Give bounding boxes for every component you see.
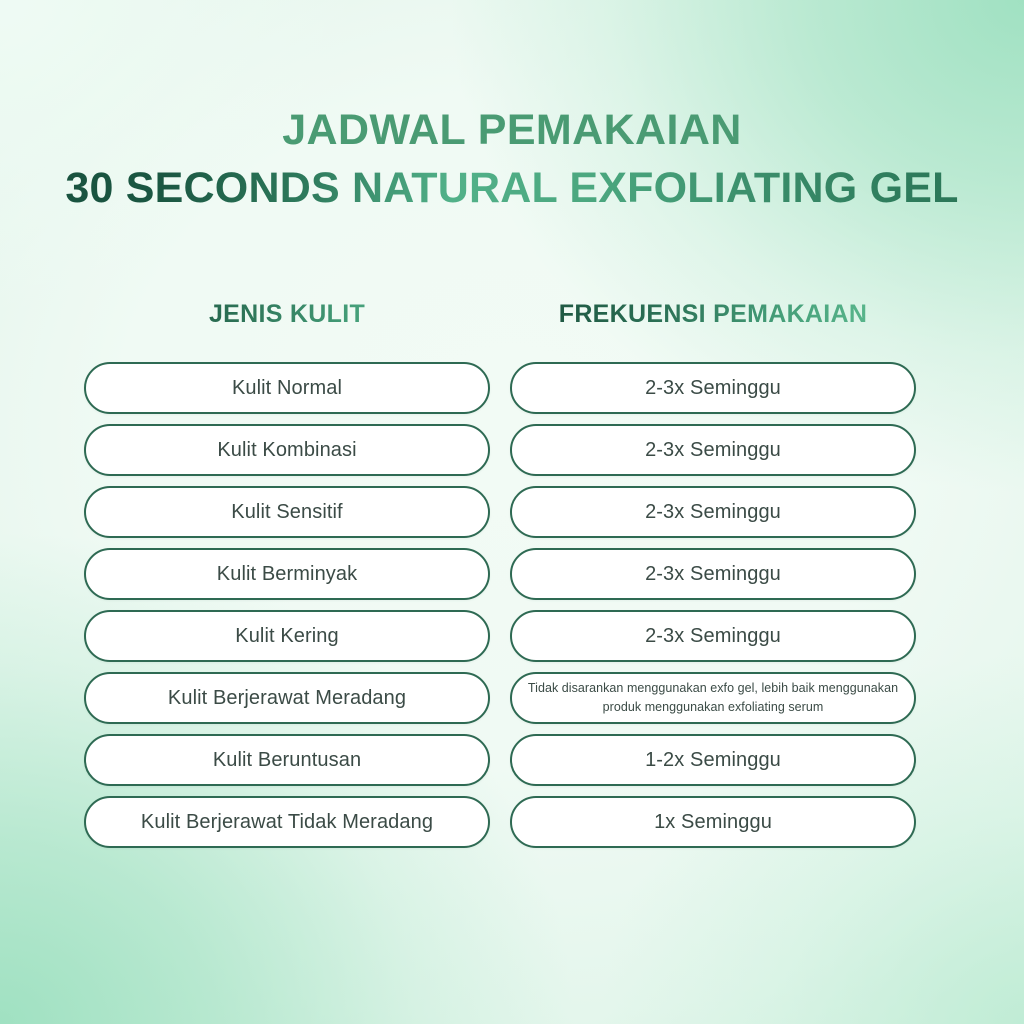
table-row[interactable]: 1x Seminggu — [510, 796, 916, 848]
table-row[interactable]: Kulit Berjerawat Tidak Meradang — [84, 796, 490, 848]
table-row[interactable]: 2-3x Seminggu — [510, 424, 916, 476]
poster-title-primary: JADWAL PEMAKAIAN — [0, 108, 1024, 153]
column-frequency: FREKUENSI PEMAKAIAN 2-3x Seminggu 2-3x S… — [510, 300, 916, 858]
table-row[interactable]: Tidak disarankan menggunakan exfo gel, l… — [510, 672, 916, 724]
frequency-label: 2-3x Seminggu — [645, 376, 781, 400]
table-row[interactable]: Kulit Berjerawat Meradang — [84, 672, 490, 724]
skin-type-label: Kulit Berminyak — [217, 562, 357, 586]
table-row[interactable]: Kulit Kering — [84, 610, 490, 662]
skin-type-row-list: Kulit Normal Kulit Kombinasi Kulit Sensi… — [84, 362, 490, 848]
schedule-table: JENIS KULIT Kulit Normal Kulit Kombinasi… — [84, 300, 940, 858]
column-skin-type: JENIS KULIT Kulit Normal Kulit Kombinasi… — [84, 300, 490, 858]
frequency-label: 2-3x Seminggu — [645, 438, 781, 462]
skin-type-label: Kulit Berjerawat Meradang — [168, 686, 406, 710]
skin-type-label: Kulit Beruntusan — [213, 748, 361, 772]
frequency-label: 1-2x Seminggu — [645, 748, 781, 772]
table-row[interactable]: 2-3x Seminggu — [510, 486, 916, 538]
table-row[interactable]: 2-3x Seminggu — [510, 610, 916, 662]
skin-type-label: Kulit Sensitif — [231, 500, 342, 524]
title-block: JADWAL PEMAKAIAN 30 SECONDS NATURAL EXFO… — [0, 108, 1024, 212]
skin-type-label: Kulit Kering — [235, 624, 338, 648]
table-row[interactable]: Kulit Normal — [84, 362, 490, 414]
skin-type-label: Kulit Berjerawat Tidak Meradang — [141, 810, 433, 834]
table-row[interactable]: Kulit Berminyak — [84, 548, 490, 600]
poster-title-secondary: 30 SECONDS NATURAL EXFOLIATING GEL — [0, 165, 1024, 211]
table-row[interactable]: 1-2x Seminggu — [510, 734, 916, 786]
frequency-label: 2-3x Seminggu — [645, 624, 781, 648]
frequency-label: Tidak disarankan menggunakan exfo gel, l… — [526, 679, 900, 717]
frequency-label: 2-3x Seminggu — [645, 562, 781, 586]
column-header-frequency: FREKUENSI PEMAKAIAN — [510, 300, 916, 344]
table-row[interactable]: Kulit Sensitif — [84, 486, 490, 538]
poster-canvas: JADWAL PEMAKAIAN 30 SECONDS NATURAL EXFO… — [0, 0, 1024, 1024]
skin-type-label: Kulit Normal — [232, 376, 342, 400]
table-row[interactable]: Kulit Beruntusan — [84, 734, 490, 786]
frequency-label: 2-3x Seminggu — [645, 500, 781, 524]
frequency-label: 1x Seminggu — [654, 810, 772, 834]
frequency-row-list: 2-3x Seminggu 2-3x Seminggu 2-3x Semingg… — [510, 362, 916, 848]
skin-type-label: Kulit Kombinasi — [217, 438, 356, 462]
table-row[interactable]: 2-3x Seminggu — [510, 362, 916, 414]
column-header-skin-type: JENIS KULIT — [84, 300, 490, 344]
table-row[interactable]: 2-3x Seminggu — [510, 548, 916, 600]
table-row[interactable]: Kulit Kombinasi — [84, 424, 490, 476]
